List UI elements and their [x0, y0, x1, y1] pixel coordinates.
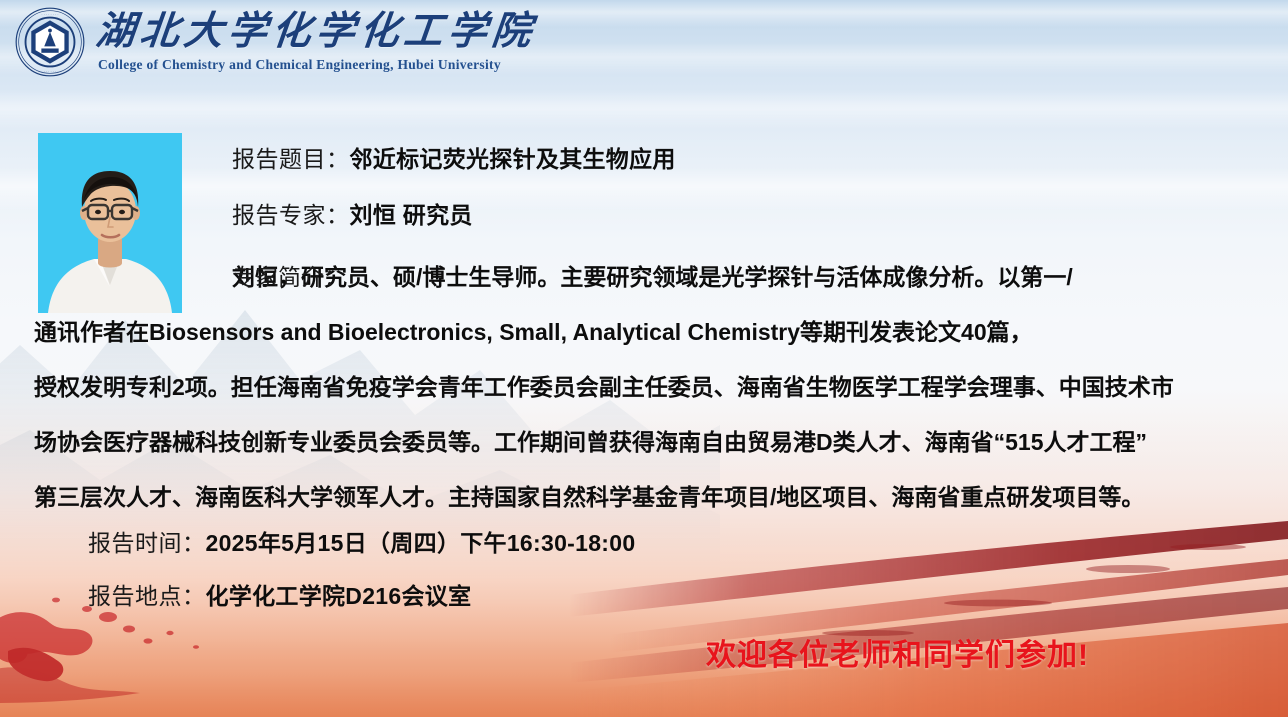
biography-line: 场协会医疗器械科技创新专业委员会委员等。工作期间曾获得海南自由贸易港D类人才、海…: [34, 415, 1266, 470]
biography-line: 刘恒，研究员、硕/博士生导师。主要研究领域是光学探针与活体成像分析。以第一/: [34, 250, 1266, 305]
institution-name-cn: 湖北大学化学化工学院: [94, 12, 538, 51]
seminar-speaker-value: 刘恒 研究员: [350, 202, 473, 228]
seminar-place-row: 报告地点：化学化工学院D216会议室: [88, 577, 471, 611]
seminar-speaker-label: 报告专家：: [232, 202, 350, 228]
seminar-place-label: 报告地点：: [88, 583, 206, 609]
biography-label: 专家简介：: [232, 250, 347, 305]
institution-header: · · · · · · · · · · · · · · · · 湖北大学化学化工…: [14, 6, 536, 78]
seminar-time-value: 2025年5月15日（周四）下午16:30-18:00: [206, 530, 636, 556]
biography-line: 通讯作者在Biosensors and Bioelectronics, Smal…: [34, 305, 1266, 360]
biography-line: 授权发明专利2项。担任海南省免疫学会青年工作委员会副主任委员、海南省生物医学工程…: [34, 360, 1266, 415]
welcome-message: 欢迎各位老师和同学们参加!: [706, 630, 1089, 674]
seminar-title-value: 邻近标记荧光探针及其生物应用: [350, 146, 676, 172]
seminar-poster: · · · · · · · · · · · · · · · · 湖北大学化学化工…: [0, 0, 1288, 717]
svg-text:· · · · · · · ·: · · · · · · · ·: [41, 70, 58, 74]
university-emblem-icon: · · · · · · · · · · · · · · · ·: [14, 6, 86, 78]
seminar-place-value: 化学化工学院D216会议室: [206, 583, 472, 609]
seminar-time-row: 报告时间：2025年5月15日（周四）下午16:30-18:00: [88, 524, 635, 558]
biography-line: 第三层次人才、海南医科大学领军人才。主持国家自然科学基金青年项目/地区项目、海南…: [34, 470, 1266, 525]
seminar-time-label: 报告时间：: [88, 530, 206, 556]
speaker-biography: 专家简介： 刘恒，研究员、硕/博士生导师。主要研究领域是光学探针与活体成像分析。…: [34, 250, 1266, 525]
svg-text:· · · · · · · ·: · · · · · · · ·: [41, 12, 58, 16]
seminar-speaker-row: 报告专家：刘恒 研究员: [232, 196, 473, 230]
institution-name-en: College of Chemistry and Chemical Engine…: [98, 58, 536, 72]
seminar-title-row: 报告题目：邻近标记荧光探针及其生物应用: [232, 140, 676, 174]
seminar-title-label: 报告题目：: [232, 146, 350, 172]
